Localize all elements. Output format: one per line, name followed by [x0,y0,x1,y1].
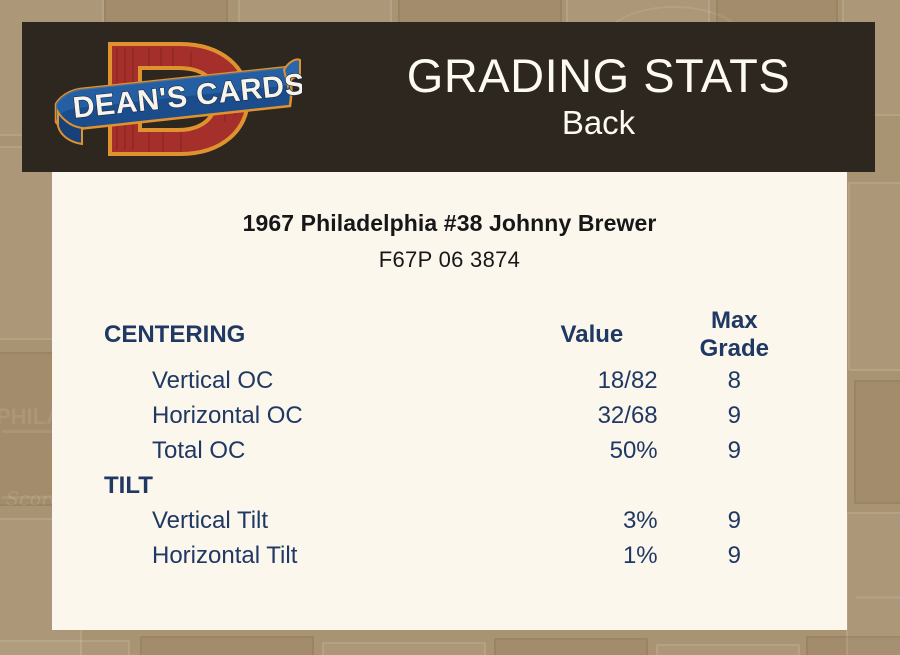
section-header-tilt: TILT [52,468,847,503]
section-header-label: TILT [52,468,847,503]
deans-cards-logo[interactable]: DEAN'S CARDS [52,30,302,165]
row-value: 3% [484,503,699,538]
table-row: Horizontal OC 32/68 9 [52,398,847,433]
table-row: Vertical OC 18/82 8 [52,363,847,398]
content-panel: 1967 Philadelphia #38 Johnny Brewer F67P… [52,172,847,630]
row-label: Total OC [52,433,484,468]
header-title-group: GRADING STATS Back [322,22,875,172]
table-header-row: CENTERING Value Max Grade [52,307,847,363]
row-label: Vertical Tilt [52,503,484,538]
row-label: Vertical OC [52,363,484,398]
page-title: GRADING STATS [407,51,790,100]
row-max-grade: 9 [700,503,847,538]
table-row: Vertical Tilt 3% 9 [52,503,847,538]
row-max-grade: 8 [700,363,847,398]
row-value: 50% [484,433,699,468]
grading-stats-table: CENTERING Value Max Grade Vertical OC 18… [52,307,847,573]
row-max-grade: 9 [700,398,847,433]
column-header-value: Value [484,307,699,363]
table-row: Total OC 50% 9 [52,433,847,468]
row-value: 32/68 [484,398,699,433]
column-header-centering: CENTERING [52,307,484,363]
row-max-grade: 9 [700,433,847,468]
row-max-grade: 9 [700,538,847,573]
stats-table-body: CENTERING Value Max Grade Vertical OC 18… [52,307,847,573]
table-row: Horizontal Tilt 1% 9 [52,538,847,573]
header-bar: DEAN'S CARDS GRADING STATS Back [22,22,875,172]
row-value: 1% [484,538,699,573]
row-label: Horizontal OC [52,398,484,433]
row-value: 18/82 [484,363,699,398]
row-label: Horizontal Tilt [52,538,484,573]
card-title: 1967 Philadelphia #38 Johnny Brewer [52,210,847,237]
card-serial-number: F67P 06 3874 [52,247,847,273]
column-header-max-grade: Max Grade [700,307,847,363]
page-subtitle: Back [562,102,635,143]
